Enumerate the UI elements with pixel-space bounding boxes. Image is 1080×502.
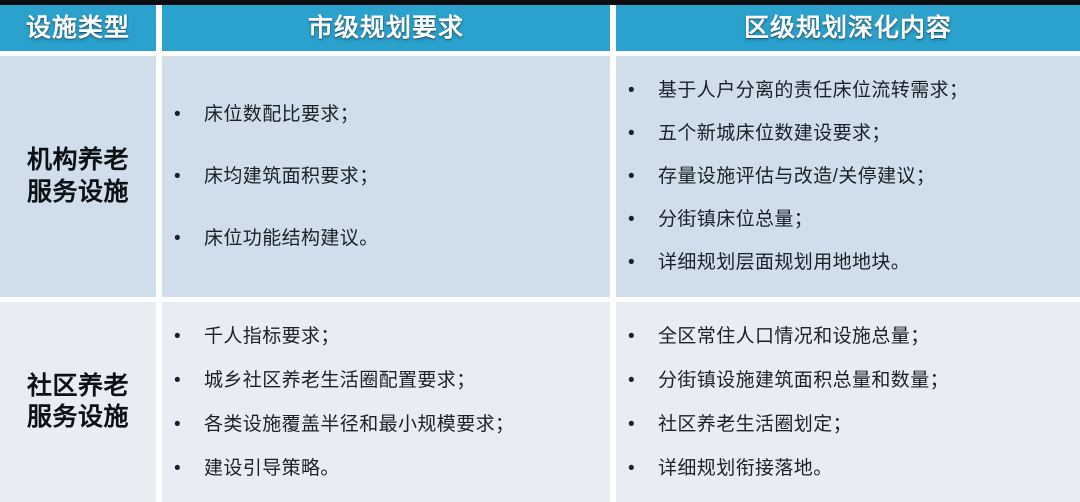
- bullet-icon: •: [622, 124, 658, 143]
- list-item: • 千人指标要求；: [168, 327, 610, 346]
- table-row: 社区养老 服务设施 • 千人指标要求； • 城乡社区养老生活圈配置要求； •: [0, 302, 1080, 502]
- bullet-icon: •: [168, 415, 204, 434]
- list-item: • 存量设施评估与改造/关停建议；: [622, 167, 1080, 186]
- table-header-row: 设施类型 市级规划要求 区级规划深化内容: [0, 5, 1080, 51]
- list-item: • 分街镇床位总量；: [622, 210, 1080, 229]
- list-item-text: 详细规划衔接落地。: [658, 459, 1080, 478]
- facility-type-label: 社区养老 服务设施: [27, 371, 129, 434]
- list-item-text: 分街镇设施建筑面积总量和数量；: [658, 371, 1080, 390]
- list-item: • 详细规划衔接落地。: [622, 459, 1080, 478]
- list-item: • 详细规划层面规划用地地块。: [622, 253, 1080, 272]
- slide-table-page: 设施类型 市级规划要求 区级规划深化内容 机构养老 服务设施 •: [0, 0, 1080, 502]
- list-item-text: 分街镇床位总量；: [658, 210, 1080, 229]
- bullet-icon: •: [168, 229, 204, 248]
- list-item-text: 城乡社区养老生活圈配置要求；: [204, 371, 610, 390]
- list-item: • 建设引导策略。: [168, 459, 610, 478]
- cell-district-planning-details: • 全区常住人口情况和设施总量； • 分街镇设施建筑面积总量和数量； • 社区养…: [616, 302, 1080, 502]
- bullet-icon: •: [168, 459, 204, 478]
- list-item: • 五个新城床位数建设要求；: [622, 124, 1080, 143]
- list-item: • 床位功能结构建议。: [168, 229, 610, 248]
- bullet-icon: •: [622, 327, 658, 346]
- bullet-icon: •: [168, 371, 204, 390]
- bullet-icon: •: [622, 459, 658, 478]
- cell-facility-type: 机构养老 服务设施: [0, 56, 156, 297]
- list-item: • 基于人户分离的责任床位流转需求；: [622, 81, 1080, 100]
- bullet-list: • 基于人户分离的责任床位流转需求； • 五个新城床位数建设要求； • 存量设施…: [616, 81, 1080, 272]
- header-cell-city-planning-requirements: 市级规划要求: [162, 5, 610, 51]
- list-item: • 床位数配比要求；: [168, 105, 610, 124]
- list-item-text: 全区常住人口情况和设施总量；: [658, 327, 1080, 346]
- facility-type-label-line2: 服务设施: [27, 402, 129, 434]
- list-item-text: 五个新城床位数建设要求；: [658, 124, 1080, 143]
- bullet-icon: •: [622, 371, 658, 390]
- header-cell-facility-type: 设施类型: [0, 5, 156, 51]
- table-row: 机构养老 服务设施 • 床位数配比要求； • 床均建筑面积要求； •: [0, 56, 1080, 297]
- bullet-list: • 千人指标要求； • 城乡社区养老生活圈配置要求； • 各类设施覆盖半径和最小…: [162, 327, 610, 478]
- list-item-text: 千人指标要求；: [204, 327, 610, 346]
- bullet-icon: •: [622, 415, 658, 434]
- bullet-icon: •: [622, 81, 658, 100]
- header-label-facility-type: 设施类型: [26, 16, 130, 41]
- bullet-list: • 全区常住人口情况和设施总量； • 分街镇设施建筑面积总量和数量； • 社区养…: [616, 327, 1080, 478]
- list-item: • 床均建筑面积要求；: [168, 167, 610, 186]
- cell-city-planning-requirements: • 床位数配比要求； • 床均建筑面积要求； • 床位功能结构建议。: [162, 56, 610, 297]
- bullet-list: • 床位数配比要求； • 床均建筑面积要求； • 床位功能结构建议。: [162, 105, 610, 248]
- list-item-text: 床位功能结构建议。: [204, 229, 610, 248]
- list-item-text: 存量设施评估与改造/关停建议；: [658, 167, 1080, 186]
- bullet-icon: •: [622, 253, 658, 272]
- bullet-icon: •: [622, 167, 658, 186]
- cell-facility-type: 社区养老 服务设施: [0, 302, 156, 502]
- bullet-icon: •: [168, 327, 204, 346]
- comparison-table: 设施类型 市级规划要求 区级规划深化内容 机构养老 服务设施 •: [0, 5, 1080, 502]
- bullet-icon: •: [168, 105, 204, 124]
- list-item: • 各类设施覆盖半径和最小规模要求；: [168, 415, 610, 434]
- header-label-city-planning-requirements: 市级规划要求: [308, 16, 464, 41]
- list-item: • 分街镇设施建筑面积总量和数量；: [622, 371, 1080, 390]
- facility-type-label-line2: 服务设施: [27, 177, 129, 209]
- bullet-icon: •: [168, 167, 204, 186]
- list-item-text: 社区养老生活圈划定；: [658, 415, 1080, 434]
- facility-type-label-line1: 社区养老: [27, 371, 129, 403]
- list-item: • 社区养老生活圈划定；: [622, 415, 1080, 434]
- list-item-text: 床均建筑面积要求；: [204, 167, 610, 186]
- list-item: • 城乡社区养老生活圈配置要求；: [168, 371, 610, 390]
- list-item-text: 详细规划层面规划用地地块。: [658, 253, 1080, 272]
- list-item-text: 各类设施覆盖半径和最小规模要求；: [204, 415, 610, 434]
- cell-city-planning-requirements: • 千人指标要求； • 城乡社区养老生活圈配置要求； • 各类设施覆盖半径和最小…: [162, 302, 610, 502]
- header-label-district-planning-details: 区级规划深化内容: [744, 16, 952, 41]
- header-cell-district-planning-details: 区级规划深化内容: [616, 5, 1080, 51]
- list-item: • 全区常住人口情况和设施总量；: [622, 327, 1080, 346]
- bullet-icon: •: [622, 210, 658, 229]
- list-item-text: 建设引导策略。: [204, 459, 610, 478]
- facility-type-label-line1: 机构养老: [27, 145, 129, 177]
- facility-type-label: 机构养老 服务设施: [27, 145, 129, 208]
- list-item-text: 基于人户分离的责任床位流转需求；: [658, 81, 1080, 100]
- list-item-text: 床位数配比要求；: [204, 105, 610, 124]
- cell-district-planning-details: • 基于人户分离的责任床位流转需求； • 五个新城床位数建设要求； • 存量设施…: [616, 56, 1080, 297]
